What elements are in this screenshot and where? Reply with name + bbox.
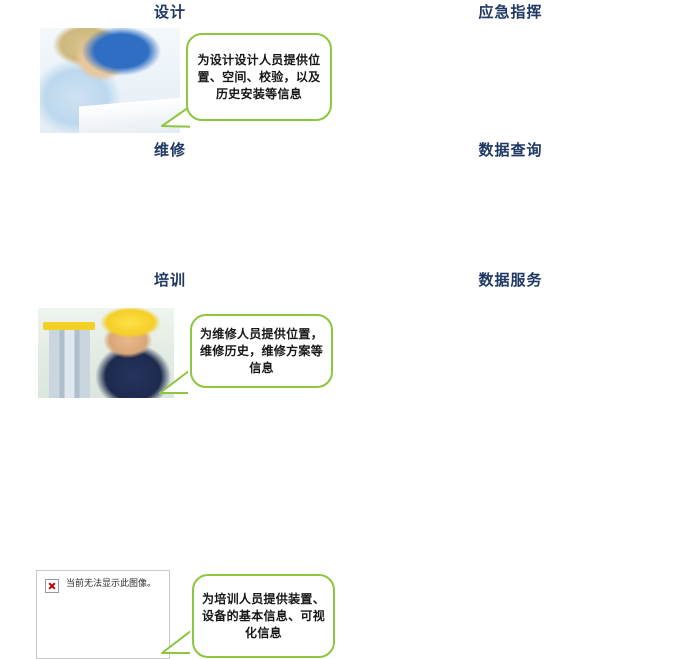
callout-bubble-training: 为培训人员提供装置、设备的基本信息、可视化信息 (192, 574, 335, 658)
panel-training: 培训 当前无法显示此图像。 为培训人员提供装置、设备的基本信息、可视化信息 (0, 270, 340, 400)
panel-design: 设计 为设计设计人员提供位置、空间、校验，以及历史安装等信息 (0, 0, 340, 140)
photo-designer-with-blueprints (40, 28, 180, 133)
callout-text-training: 为培训人员提供装置、设备的基本信息、可视化信息 (194, 587, 333, 646)
capability-diagram: 设计 为设计设计人员提供位置、空间、校验，以及历史安装等信息 应急指挥 为应急指… (0, 0, 681, 400)
panel-title-maintenance: 维修 (0, 142, 340, 160)
panel-data-service: 数据服务 设备管理 工程管理 HSE管理 。。。系统 为其他系统提供统一的数据共… (340, 270, 681, 400)
panel-title-data-service: 数据服务 (340, 272, 681, 290)
panel-emergency-command: 应急指挥 为应急指挥提供位置、指挥方案等信息 (340, 0, 681, 140)
panel-data-query: 数据查询 为查询人员提供全面、准确的各版本版本信息 (340, 140, 681, 270)
callout-text-design: 为设计设计人员提供位置、空间、校验，以及历史安装等信息 (188, 48, 330, 107)
panel-title-design: 设计 (0, 4, 340, 22)
broken-image-icon (45, 579, 59, 593)
broken-image-placeholder: 当前无法显示此图像。 (36, 570, 170, 659)
panel-maintenance: 维修 为维修人员提供位置，维修历史，维修方案等信息 (0, 140, 340, 270)
callout-bubble-design: 为设计设计人员提供位置、空间、校验，以及历史安装等信息 (186, 33, 332, 121)
broken-image-message: 当前无法显示此图像。 (66, 579, 156, 590)
panel-title-training: 培训 (0, 272, 340, 290)
panel-title-emergency-command: 应急指挥 (340, 4, 681, 22)
panel-title-data-query: 数据查询 (340, 142, 681, 160)
photo-fill (40, 28, 180, 133)
